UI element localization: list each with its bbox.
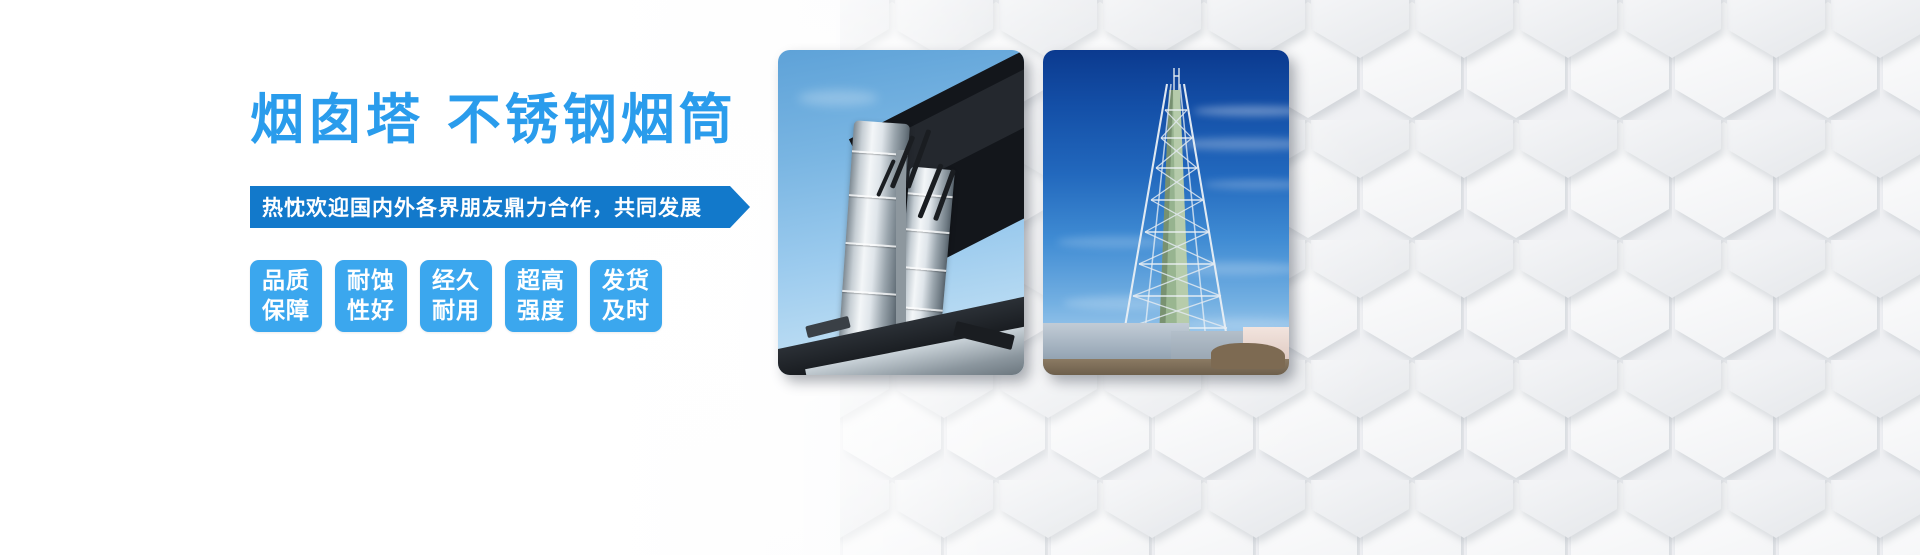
banner-copy: 烟囱塔 不锈钢烟筒 热忱欢迎国内外各界朋友鼎力合作，共同发展 品质 保障 耐蚀 … xyxy=(250,88,810,332)
ribbon-shape: 热忱欢迎国内外各界朋友鼎力合作，共同发展 xyxy=(250,186,750,228)
feature-chip[interactable]: 超高 强度 xyxy=(505,260,577,332)
banner-headline: 烟囱塔 不锈钢烟筒 xyxy=(250,88,810,152)
product-photo-lattice-tower[interactable] xyxy=(1043,50,1289,375)
promo-banner: 烟囱塔 不锈钢烟筒 热忱欢迎国内外各界朋友鼎力合作，共同发展 品质 保障 耐蚀 … xyxy=(0,0,1920,555)
feature-chip[interactable]: 经久 耐用 xyxy=(420,260,492,332)
feature-chip-line2: 保障 xyxy=(262,296,310,326)
feature-chip-line2: 性好 xyxy=(347,296,395,326)
feature-chip[interactable]: 品质 保障 xyxy=(250,260,322,332)
product-photo-stainless-flue[interactable] xyxy=(778,50,1024,375)
feature-chip-line1: 发货 xyxy=(602,266,650,296)
feature-chip-line1: 品质 xyxy=(262,266,310,296)
photo-artwork xyxy=(1043,50,1289,375)
ribbon-text: 热忱欢迎国内外各界朋友鼎力合作，共同发展 xyxy=(250,192,702,222)
feature-chip-line1: 耐蚀 xyxy=(347,266,395,296)
feature-chip-line2: 耐用 xyxy=(432,296,480,326)
feature-chip-line1: 超高 xyxy=(517,266,565,296)
feature-chip-line1: 经久 xyxy=(432,266,480,296)
feature-chip-list: 品质 保障 耐蚀 性好 经久 耐用 超高 强度 发货 及时 xyxy=(250,260,810,332)
feature-chip-line2: 强度 xyxy=(517,296,565,326)
feature-chip[interactable]: 耐蚀 性好 xyxy=(335,260,407,332)
photo-artwork xyxy=(778,50,1024,375)
feature-chip-line2: 及时 xyxy=(602,296,650,326)
banner-ribbon: 热忱欢迎国内外各界朋友鼎力合作，共同发展 xyxy=(250,186,750,228)
feature-chip[interactable]: 发货 及时 xyxy=(590,260,662,332)
